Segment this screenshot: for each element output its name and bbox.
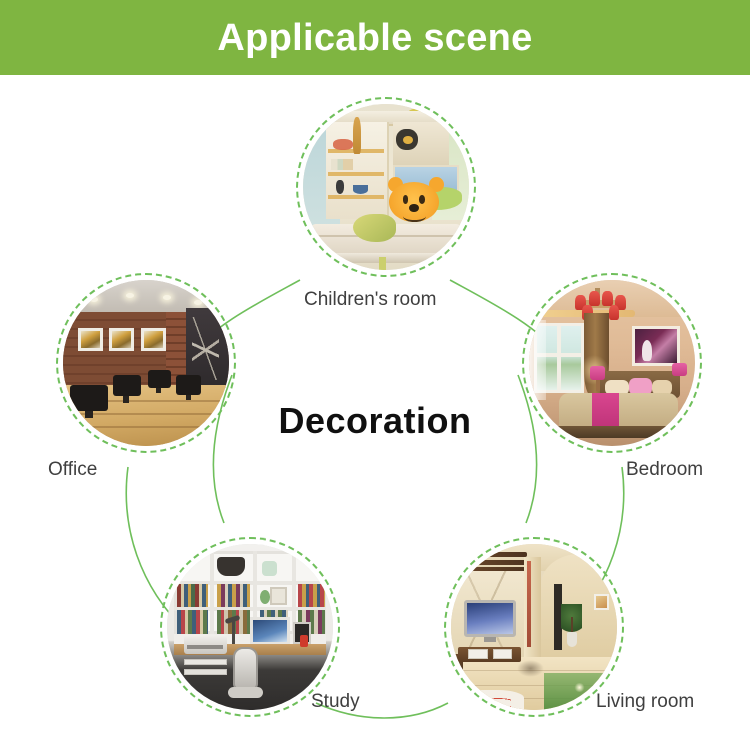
node-study[interactable] [160,537,340,717]
label-bedroom: Bedroom [626,460,703,479]
center-label: Decoration [0,400,750,442]
label-childrens-room: Children's room [304,290,436,309]
scene-study [167,544,333,710]
photo-living-room [451,544,617,710]
scene-childrens-room [303,104,469,270]
scene-living-room [451,544,617,710]
photo-study [167,544,333,710]
node-living-room[interactable] [444,537,624,717]
node-childrens-room[interactable] [296,97,476,277]
diagram-stage: Children's room [0,75,750,750]
photo-childrens-room [303,104,469,270]
page-title: Applicable scene [217,19,532,57]
label-living-room: Living room [596,692,694,711]
label-study: Study [311,692,360,711]
label-office: Office [48,460,97,479]
header-banner: Applicable scene [0,0,750,75]
